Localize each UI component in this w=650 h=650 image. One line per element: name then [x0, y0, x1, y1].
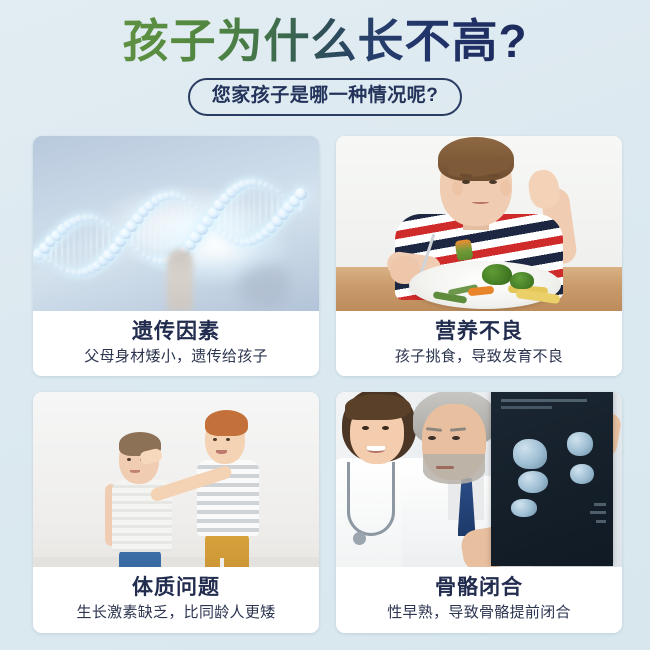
subtitle-row: 您家孩子是哪一种情况呢? — [0, 78, 650, 116]
dna-bead — [112, 227, 117, 232]
male-doctor-eye-left — [428, 436, 436, 440]
card-description: 性早熟，导致骨骼提前闭合 — [387, 604, 571, 623]
card-caption: 营养不良 孩子挑食，导致发育不良 — [336, 311, 622, 376]
xray-bone-5 — [570, 464, 594, 484]
card-image-doctors-xray — [336, 392, 622, 567]
card-image-height-compare — [33, 392, 319, 567]
dna-rung — [154, 202, 156, 262]
boy-eye-left — [462, 180, 470, 184]
card-title: 骨骼闭合 — [435, 575, 523, 600]
food-on-fork — [455, 239, 474, 261]
card-title: 遗传因素 — [132, 319, 220, 344]
dna-bead — [106, 222, 112, 228]
dna-rung — [242, 186, 244, 243]
floor-line — [33, 557, 319, 567]
female-doctor-eye-right — [382, 426, 389, 430]
card-caption: 体质问题 生长激素缺乏，比同龄人更矮 — [33, 567, 319, 633]
boy-eye-right — [489, 180, 497, 184]
dna-rung — [143, 213, 145, 256]
card-title: 营养不良 — [435, 319, 523, 344]
dna-rung — [248, 184, 250, 243]
dna-rung — [85, 219, 87, 273]
dna-bead — [275, 189, 281, 195]
xray-header-text — [501, 399, 586, 402]
subtitle-pill: 您家孩子是哪一种情况呢? — [188, 78, 463, 116]
broccoli — [482, 264, 512, 285]
blurred-foreground-object — [167, 249, 193, 311]
male-doctor-eye-right — [452, 436, 460, 440]
dna-rung — [236, 189, 238, 242]
dna-rung — [149, 207, 151, 259]
card-description: 孩子挑食，导致发育不良 — [395, 348, 563, 367]
card-description: 父母身材矮小，遗传给孩子 — [84, 348, 268, 367]
dna-rung — [253, 183, 255, 241]
xray-bone-2 — [518, 471, 548, 493]
xray-film — [491, 392, 613, 566]
xray-bone-1 — [513, 439, 547, 469]
card-caption: 骨骼闭合 性早熟，导致骨骼提前闭合 — [336, 567, 622, 633]
dna-bead — [100, 219, 106, 225]
cause-card-malnutrition[interactable]: 营养不良 孩子挑食，导致发育不良 — [336, 136, 622, 376]
cause-card-constitution[interactable]: 体质问题 生长激素缺乏，比同龄人更矮 — [33, 392, 319, 633]
dna-bead — [48, 259, 53, 264]
card-title: 体质问题 — [132, 575, 220, 600]
dna-rung — [79, 220, 81, 274]
dna-illustration — [33, 136, 319, 311]
stethoscope-icon — [347, 462, 395, 536]
card-image-dna — [33, 136, 319, 311]
dna-bead — [42, 256, 47, 261]
dna-bead — [188, 201, 194, 207]
dna-bead — [269, 185, 275, 191]
dna-bead — [194, 206, 199, 211]
dna-rung — [67, 226, 69, 272]
xray-side-label-1 — [594, 503, 606, 506]
page-header: 孩子为什么长不高? 您家孩子是哪一种情况呢? — [0, 0, 650, 116]
dna-bead — [281, 194, 286, 199]
taller-boy-trousers — [205, 534, 249, 567]
broccoli-2 — [510, 272, 534, 289]
boy-ear-right — [500, 180, 511, 196]
dna-rung — [160, 199, 162, 263]
dna-rung — [230, 194, 232, 240]
taller-boy-leg-gap — [220, 558, 224, 567]
xray-side-label-3 — [596, 520, 606, 523]
card-description: 生长激素缺乏，比同龄人更矮 — [77, 604, 276, 623]
cause-card-grid: 遗传因素 父母身材矮小，遗传给孩子 — [33, 136, 622, 633]
taller-boy-mouth — [216, 450, 227, 454]
page-title: 孩子为什么长不高? — [122, 14, 527, 68]
card-caption: 遗传因素 父母身材矮小，遗传给孩子 — [33, 311, 319, 376]
female-doctor-fringe — [345, 394, 411, 420]
picky-eater-illustration — [336, 136, 622, 311]
xray-bone-4 — [567, 432, 593, 456]
dna-bead — [295, 188, 307, 200]
xray-side-label-2 — [590, 511, 606, 514]
dna-rung — [224, 199, 226, 236]
taller-boy-hair — [205, 410, 248, 436]
cause-card-genetics[interactable]: 遗传因素 父母身材矮小，遗传给孩子 — [33, 136, 319, 376]
male-doctor-beard — [423, 454, 485, 484]
dna-bead — [181, 196, 187, 202]
doctors-xray-illustration — [336, 392, 622, 567]
dna-rung — [61, 231, 63, 270]
dna-rung — [166, 197, 168, 263]
dna-bead — [298, 207, 303, 212]
dna-rung — [73, 223, 75, 274]
card-image-picky-eater — [336, 136, 622, 311]
dna-bead — [211, 223, 216, 228]
xray-bone-3 — [511, 499, 537, 517]
dna-rung — [137, 220, 139, 252]
blurred-background-blob — [238, 265, 290, 309]
height-comparison-illustration — [33, 392, 319, 567]
dna-bead — [130, 243, 135, 248]
dna-bead — [217, 229, 222, 234]
female-doctor-eye-left — [362, 426, 369, 430]
shorter-boy-jeans — [119, 550, 161, 567]
xray-header-text-2 — [501, 406, 552, 409]
dna-bead — [135, 247, 140, 252]
cause-card-bone-closure[interactable]: 骨骼闭合 性早熟，导致骨骼提前闭合 — [336, 392, 622, 633]
male-doctor-mouth — [436, 466, 454, 469]
boy-mouth — [472, 200, 489, 204]
